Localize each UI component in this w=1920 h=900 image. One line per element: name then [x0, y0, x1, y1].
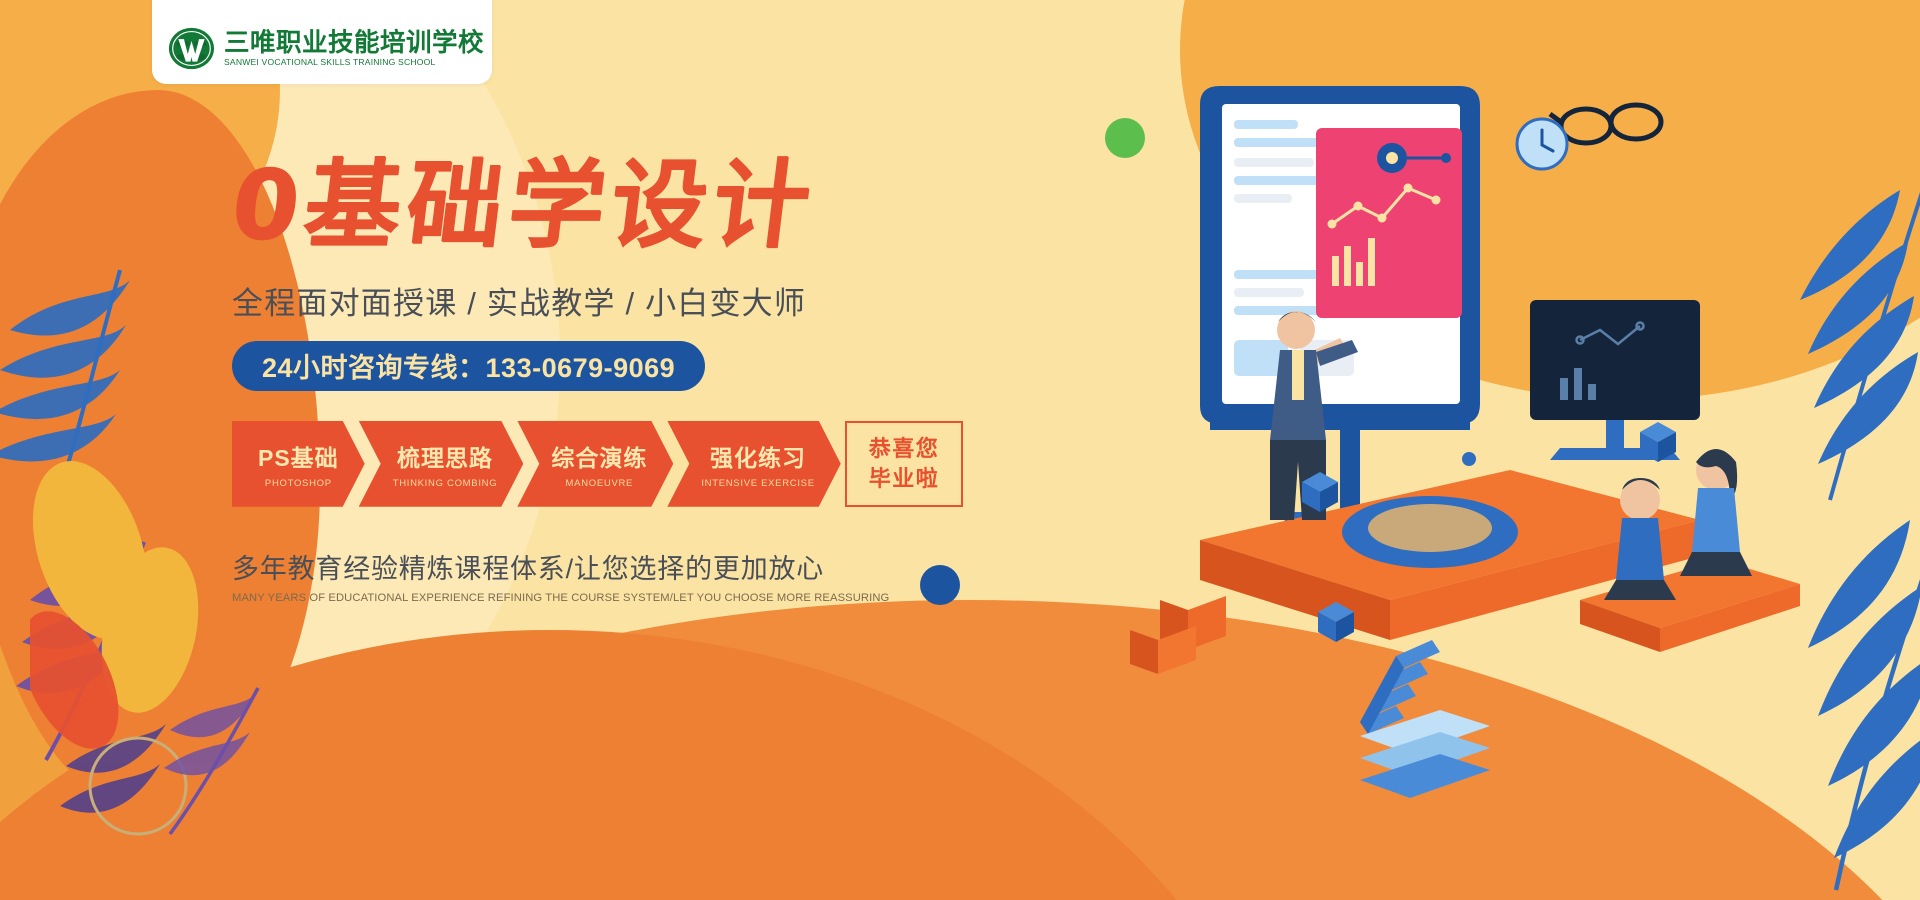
course-step-1-label-cn: PS基础 — [258, 439, 339, 473]
banner-headline: 0基础学设计 — [226, 155, 970, 256]
banner-subheadline: 全程面对面授课 / 实战教学 / 小白变大师 — [232, 278, 963, 323]
blue-stairs-illustration — [1360, 640, 1490, 798]
orange-steps-illustration — [1130, 596, 1226, 674]
course-step-4-label-cn: 强化练习 — [710, 439, 806, 473]
course-step-2-label-en: THINKING COMBING — [393, 478, 498, 489]
school-name-cn: 三唯职业技能培训学校 — [224, 30, 484, 57]
course-step-graduation[interactable]: 恭喜您 毕业啦 — [845, 421, 964, 507]
course-step-2-label-cn: 梳理思路 — [397, 439, 493, 473]
course-step-4[interactable]: 强化练习 INTENSIVE EXERCISE — [667, 421, 840, 507]
course-step-3[interactable]: 综合演练 MANOEUVRE — [517, 421, 673, 507]
course-steps-flow: PS基础 PHOTOSHOP 梳理思路 THINKING COMBING 综合演… — [232, 421, 963, 507]
graduation-line-1: 恭喜您 — [869, 434, 940, 464]
school-name-en: SANWEI VOCATIONAL SKILLS TRAINING SCHOOL — [224, 57, 484, 67]
course-step-4-label-en: INTENSIVE EXERCISE — [701, 478, 814, 489]
course-step-3-label-en: MANOEUVRE — [566, 478, 634, 489]
monitor-illustration — [1200, 86, 1480, 528]
tagline-en: MANY YEARS OF EDUCATIONAL EXPERIENCE REF… — [232, 592, 963, 604]
banner-canvas: 三唯职业技能培训学校 SANWEI VOCATIONAL SKILLS TRAI… — [0, 0, 1920, 900]
banner-content: 0基础学设计 全程面对面授课 / 实战教学 / 小白变大师 24小时咨询专线：1… — [232, 155, 963, 604]
graduation-line-2: 毕业啦 — [869, 464, 940, 494]
hotline-badge[interactable]: 24小时咨询专线：133-0679-9069 — [232, 341, 705, 391]
clock-icon — [1517, 119, 1567, 169]
course-step-2[interactable]: 梳理思路 THINKING COMBING — [359, 421, 524, 507]
decoration-dot-green — [1105, 118, 1145, 158]
school-w-emblem-icon — [168, 25, 215, 72]
decoration-dot-blue-small — [1462, 452, 1476, 466]
school-logo-card[interactable]: 三唯职业技能培训学校 SANWEI VOCATIONAL SKILLS TRAI… — [152, 0, 492, 84]
foliage-right-bottom — [1660, 490, 1920, 900]
course-step-1[interactable]: PS基础 PHOTOSHOP — [232, 421, 365, 507]
banner-tagline: 多年教育经验精炼课程体系/让您选择的更加放心 MANY YEARS OF EDU… — [232, 547, 963, 604]
course-step-3-label-cn: 综合演练 — [551, 439, 647, 473]
course-step-1-label-en: PHOTOSHOP — [265, 478, 332, 489]
tagline-cn: 多年教育经验精炼课程体系/让您选择的更加放心 — [232, 547, 963, 586]
